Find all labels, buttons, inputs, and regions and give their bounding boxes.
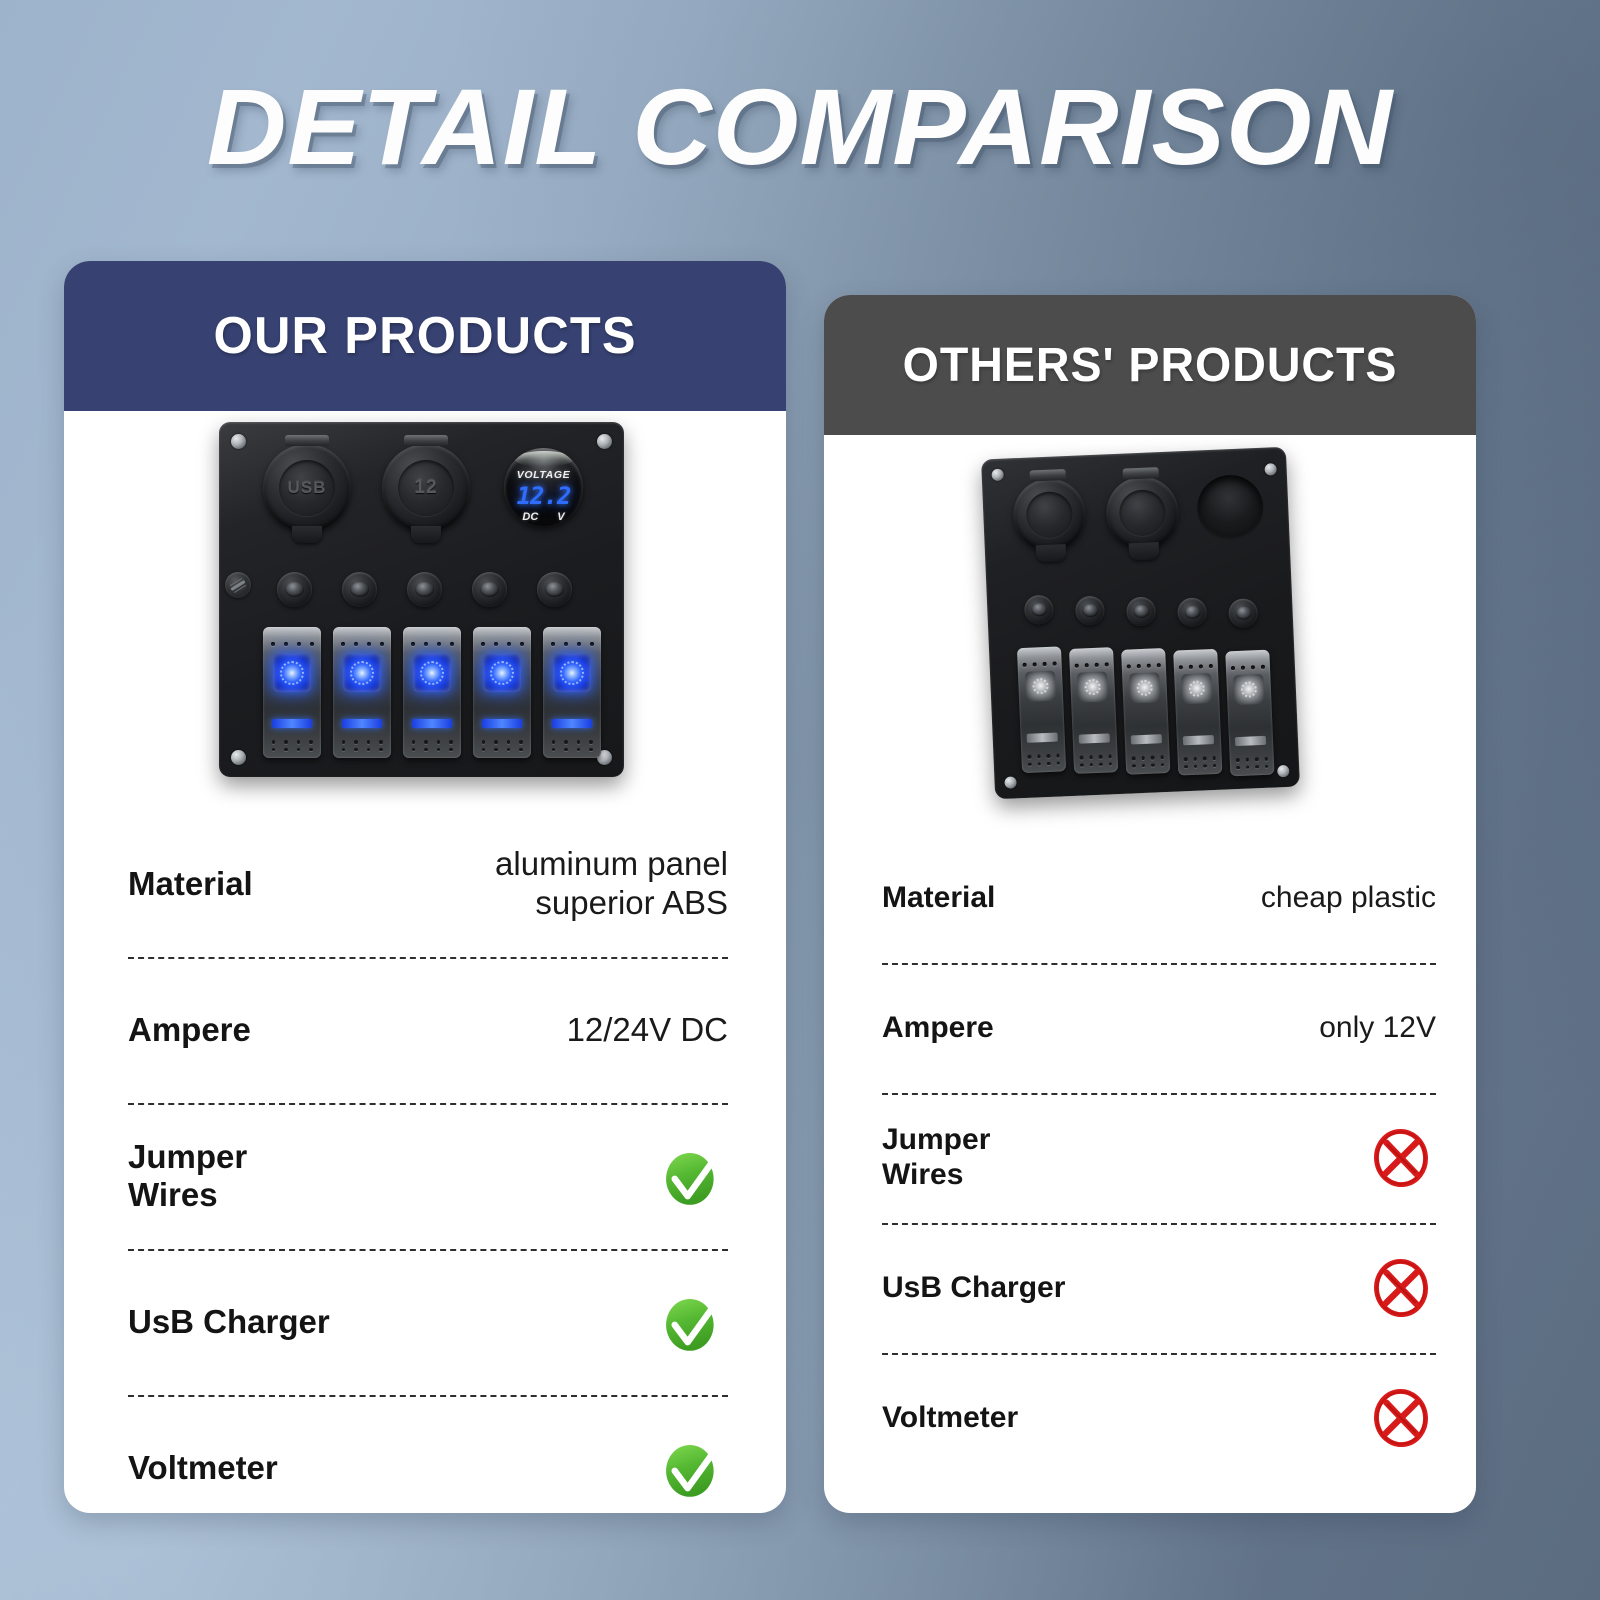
rocker-vent-dots <box>403 642 461 646</box>
rocker-indicator-strip <box>1235 736 1266 746</box>
rocker-led-icon <box>553 654 591 692</box>
others-products-spec-table: Material cheap plastic Ampere only 12V J… <box>824 833 1476 1513</box>
circuit-breaker <box>472 572 507 607</box>
spec-label: Voltmeter <box>128 1449 278 1487</box>
rocker-vent-dots <box>333 642 391 646</box>
green-check-icon <box>656 1140 728 1212</box>
spec-label: Material <box>882 881 995 916</box>
rocker-vent-dots <box>1174 664 1218 670</box>
our-products-body: USB 12 VOLTAGE 12.2 DC V <box>64 411 786 1513</box>
rocker-led-icon <box>273 654 311 692</box>
blank-hole <box>1196 474 1265 543</box>
spec-row: UsB Charger <box>882 1223 1436 1353</box>
rocker-led-icon <box>343 654 381 692</box>
others-products-body: Material cheap plastic Ampere only 12V J… <box>824 435 1476 1513</box>
our-products-header: OUR PRODUCTS <box>64 261 786 411</box>
circuit-breaker <box>277 572 312 607</box>
rocker-indicator-strip <box>552 719 592 728</box>
panel-screw-icon <box>991 469 1003 481</box>
spec-row: Material cheap plastic <box>882 833 1436 963</box>
rocker-led-icon <box>483 654 521 692</box>
spec-label: Jumper Wires <box>882 1123 990 1193</box>
rocker-switch[interactable] <box>1225 650 1274 777</box>
socket-tab-icon <box>1129 542 1160 560</box>
spec-row: Material aluminum panel superior ABS <box>128 811 728 957</box>
rocker-vent-dots <box>1018 661 1062 667</box>
panel-screw-icon <box>231 750 246 765</box>
spec-value: only 12V <box>1319 1010 1436 1045</box>
spec-row: Jumper Wires <box>882 1093 1436 1223</box>
rocker-vent-dots <box>473 642 531 646</box>
voltmeter-unit-v: V <box>557 511 564 523</box>
red-cross-icon <box>1366 1253 1436 1323</box>
rocker-indicator-strip <box>1131 734 1162 744</box>
others-products-card: OTHERS' PRODUCTS <box>824 295 1476 1513</box>
rocker-led-icon <box>1181 673 1212 704</box>
circuit-breaker <box>1228 598 1258 628</box>
our-products-header-label: OUR PRODUCTS <box>213 306 636 366</box>
rocker-indicator-strip <box>1183 735 1214 745</box>
socket-hinge-icon <box>1123 467 1159 479</box>
rocker-led-icon <box>1129 672 1160 703</box>
spec-row: Voltmeter <box>128 1395 728 1513</box>
switch-panel-others <box>981 447 1300 799</box>
rocker-vent-dots <box>333 740 391 751</box>
red-cross-icon <box>1366 1383 1436 1453</box>
voltmeter-unit-dc: DC <box>522 511 538 523</box>
green-check-icon <box>656 1432 728 1504</box>
circuit-breaker <box>1177 597 1207 627</box>
spec-label: UsB Charger <box>882 1271 1065 1306</box>
spec-label: UsB Charger <box>128 1303 330 1341</box>
spec-value: aluminum panel superior ABS <box>495 845 728 923</box>
rocker-switch[interactable] <box>543 627 601 758</box>
rocker-indicator-strip <box>272 719 312 728</box>
our-products-spec-table: Material aluminum panel superior ABS Amp… <box>64 811 786 1513</box>
others-product-image <box>824 435 1476 833</box>
rocker-switch[interactable] <box>1069 647 1118 774</box>
rocker-switch[interactable] <box>333 627 391 758</box>
rocker-switch[interactable] <box>1017 646 1066 773</box>
voltmeter-value: 12.2 <box>517 482 571 510</box>
rocker-indicator-strip <box>1079 733 1110 743</box>
spec-label: Ampere <box>882 1011 994 1046</box>
usb-socket: USB <box>263 444 351 532</box>
spec-row: Jumper Wires <box>128 1103 728 1249</box>
spec-row: Ampere only 12V <box>882 963 1436 1093</box>
circuit-breaker <box>407 572 442 607</box>
panel-screw-icon <box>1264 463 1276 475</box>
switch-panel-ours: USB 12 VOLTAGE 12.2 DC V <box>219 422 624 777</box>
rocker-indicator-strip <box>412 719 452 728</box>
circuit-breaker <box>1024 595 1054 625</box>
rocker-vent-dots <box>473 740 531 751</box>
spec-label: Voltmeter <box>882 1401 1018 1436</box>
panel-screw-icon <box>597 434 612 449</box>
power-socket: 12 <box>382 444 470 532</box>
rocker-vent-dots <box>263 642 321 646</box>
circuit-breaker <box>342 572 377 607</box>
socket-tab-icon <box>411 526 441 543</box>
rocker-vent-dots <box>1021 753 1065 766</box>
rocker-vent-dots <box>1074 754 1118 767</box>
usb-socket-label: USB <box>288 478 327 498</box>
spec-value: 12/24V DC <box>567 1011 728 1050</box>
rocker-vent-dots <box>263 740 321 751</box>
green-check-icon <box>656 1286 728 1358</box>
socket-tab-icon <box>1036 544 1067 562</box>
panel-screw-icon <box>1277 765 1289 777</box>
socket-hinge-icon <box>1030 469 1066 481</box>
rocker-indicator-strip <box>342 719 382 728</box>
rocker-switch[interactable] <box>263 627 321 758</box>
spec-row: Voltmeter <box>882 1353 1436 1483</box>
spec-row: Ampere 12/24V DC <box>128 957 728 1103</box>
rocker-indicator-strip <box>482 719 522 728</box>
voltmeter-glare <box>515 451 573 466</box>
panel-screw-icon <box>231 434 246 449</box>
rocker-indicator-strip <box>1027 733 1058 743</box>
power-socket <box>1105 475 1180 550</box>
others-products-header: OTHERS' PRODUCTS <box>824 295 1476 435</box>
rocker-led-icon <box>413 654 451 692</box>
voltmeter-units: DC V <box>504 511 583 523</box>
others-products-header-label: OTHERS' PRODUCTS <box>903 338 1398 393</box>
rocker-switch[interactable] <box>1121 648 1170 775</box>
rocker-led-icon <box>1025 671 1056 702</box>
rocker-vent-dots <box>403 740 461 751</box>
socket-hinge-icon <box>404 435 448 446</box>
rocker-switch[interactable] <box>1173 649 1222 776</box>
red-cross-icon <box>1366 1123 1436 1193</box>
rocker-switch[interactable] <box>403 627 461 758</box>
our-product-image: USB 12 VOLTAGE 12.2 DC V <box>64 411 786 811</box>
rocker-led-icon <box>1077 671 1108 702</box>
socket-tab-icon <box>292 526 322 543</box>
voltmeter-display: VOLTAGE 12.2 DC V <box>504 448 583 527</box>
circuit-breaker <box>1075 596 1105 626</box>
spec-value: cheap plastic <box>1261 880 1436 915</box>
rocker-vent-dots <box>543 740 601 751</box>
voltmeter-title-label: VOLTAGE <box>517 469 570 481</box>
rocker-vent-dots <box>1230 757 1274 770</box>
circuit-breaker <box>1126 596 1156 626</box>
rocker-vent-dots <box>543 642 601 646</box>
spec-label: Ampere <box>128 1011 251 1049</box>
rocker-vent-dots <box>1122 663 1166 669</box>
power-socket-label: 12 <box>414 477 437 499</box>
our-products-card: OUR PRODUCTS USB 12 <box>64 261 786 1513</box>
spec-label: Material <box>128 865 253 903</box>
page-title: DETAIL COMPARISON <box>0 68 1600 187</box>
ground-lug-icon <box>225 572 251 598</box>
circuit-breaker <box>537 572 572 607</box>
usb-socket <box>1012 477 1087 552</box>
rocker-vent-dots <box>1178 756 1222 769</box>
rocker-vent-dots <box>1126 755 1170 768</box>
rocker-led-icon <box>1233 674 1264 705</box>
spec-label: Jumper Wires <box>128 1138 247 1215</box>
panel-screw-icon <box>1004 776 1016 788</box>
rocker-vent-dots <box>1070 662 1114 668</box>
rocker-vent-dots <box>1226 665 1270 671</box>
socket-hinge-icon <box>285 435 329 446</box>
rocker-switch[interactable] <box>473 627 531 758</box>
spec-row: UsB Charger <box>128 1249 728 1395</box>
